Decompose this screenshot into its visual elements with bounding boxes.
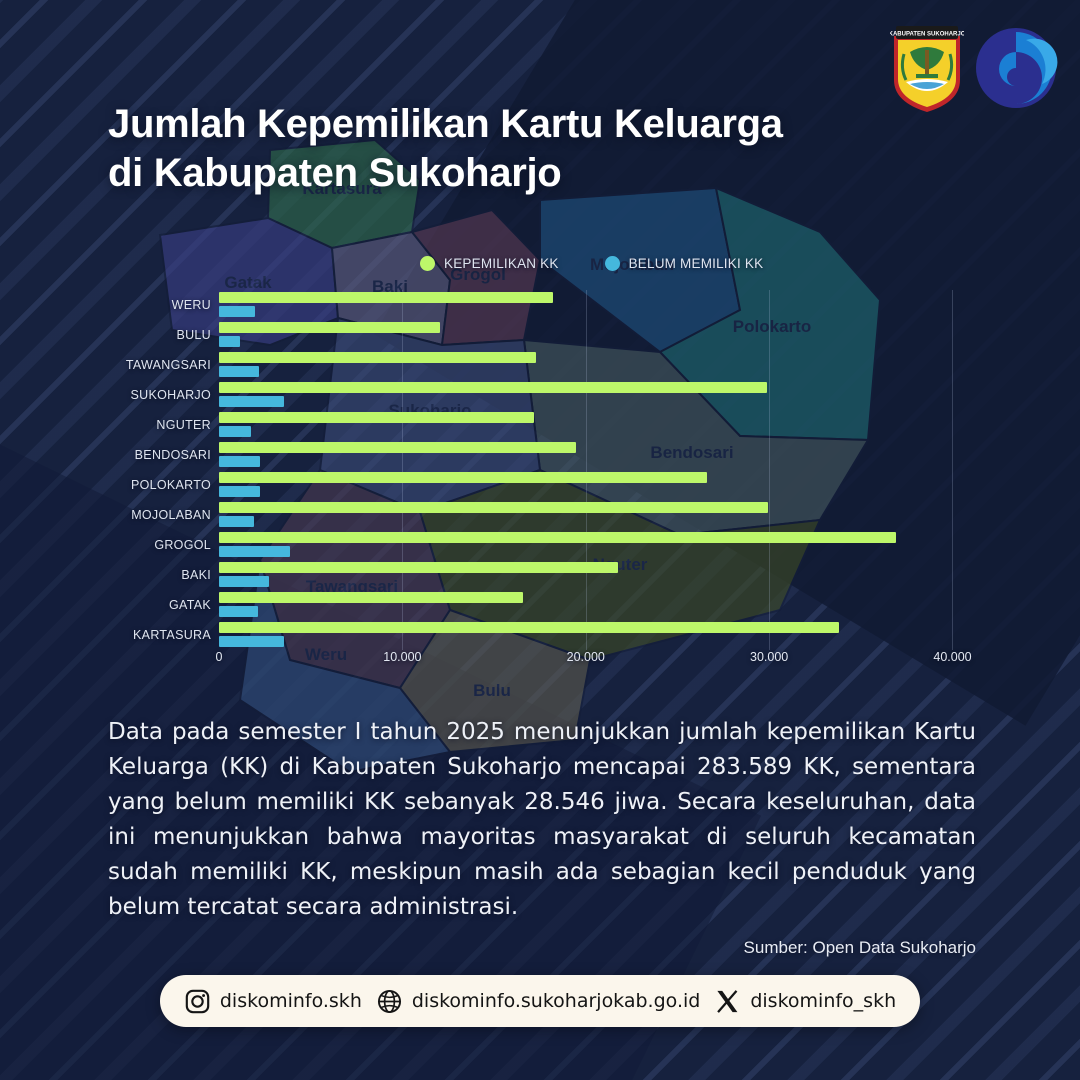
bar-belum-memiliki-kk xyxy=(219,546,290,557)
chart-category-label: BENDOSARI xyxy=(135,448,211,462)
chart-category-label: KARTASURA xyxy=(133,628,211,642)
chart-category-row: POLOKARTO xyxy=(120,470,219,500)
footer-contact-bar: diskominfo.skh diskominfo.sukoharjokab.g… xyxy=(160,975,920,1027)
svg-text:KABUPATEN SUKOHARJO: KABUPATEN SUKOHARJO xyxy=(890,32,964,38)
kominfo-logo xyxy=(974,26,1058,110)
bar-kepemilikan-kk xyxy=(219,532,896,543)
infographic-page: Kartasura Gatak Baki Grogol Mojolaban Po… xyxy=(0,0,1080,1080)
footer-twitter[interactable]: diskominfo_skh xyxy=(714,988,896,1015)
chart-legend: KEPEMILIKAN KK BELUM MEMILIKI KK xyxy=(420,256,763,271)
chart-category-label: GATAK xyxy=(169,598,211,612)
chart-bar-row xyxy=(219,410,980,440)
bar-kepemilikan-kk xyxy=(219,592,523,603)
chart-plot-area: WERUBULUTAWANGSARISUKOHARJONGUTERBENDOSA… xyxy=(120,290,980,670)
chart-x-tick-label: 20.000 xyxy=(567,650,605,664)
kabupaten-sukoharjo-crest: KABUPATEN SUKOHARJO xyxy=(890,22,964,114)
x-twitter-icon xyxy=(714,988,741,1015)
chart-category-row: BAKI xyxy=(120,560,219,590)
bar-kepemilikan-kk xyxy=(219,382,767,393)
chart-category-row: SUKOHARJO xyxy=(120,380,219,410)
bar-belum-memiliki-kk xyxy=(219,336,240,347)
chart-category-label: GROGOL xyxy=(154,538,211,552)
bar-kepemilikan-kk xyxy=(219,502,768,513)
chart-bar-row xyxy=(219,470,980,500)
bar-belum-memiliki-kk xyxy=(219,456,260,467)
logo-group: KABUPATEN SUKOHARJO xyxy=(890,22,1058,114)
bar-kepemilikan-kk xyxy=(219,352,536,363)
bar-belum-memiliki-kk xyxy=(219,576,269,587)
chart-bar-row xyxy=(219,560,980,590)
title-line-2: di Kabupaten Sukoharjo xyxy=(108,149,868,198)
chart-x-tick-label: 40.000 xyxy=(933,650,971,664)
chart-category-label: TAWANGSARI xyxy=(126,358,211,372)
chart-bar-row xyxy=(219,500,980,530)
chart-x-tick-label: 0 xyxy=(216,650,223,664)
chart-category-row: WERU xyxy=(120,290,219,320)
chart-bar-row xyxy=(219,620,980,650)
legend-item-kepemilikan: KEPEMILIKAN KK xyxy=(420,256,559,271)
globe-icon xyxy=(376,988,403,1015)
legend-label-kepemilikan: KEPEMILIKAN KK xyxy=(444,256,559,271)
bar-belum-memiliki-kk xyxy=(219,396,284,407)
bar-belum-memiliki-kk xyxy=(219,606,258,617)
footer-twitter-handle: diskominfo_skh xyxy=(750,990,896,1012)
legend-dot-green xyxy=(420,256,435,271)
footer-instagram-handle: diskominfo.skh xyxy=(220,990,362,1012)
bar-kepemilikan-kk xyxy=(219,412,534,423)
chart-category-label: NGUTER xyxy=(156,418,211,432)
chart-category-row: BULU xyxy=(120,320,219,350)
chart-category-label: BAKI xyxy=(181,568,211,582)
bar-kepemilikan-kk xyxy=(219,622,839,633)
chart-category-label: SUKOHARJO xyxy=(131,388,212,402)
chart-category-row: GATAK xyxy=(120,590,219,620)
narrative-paragraph: Data pada semester I tahun 2025 menunjuk… xyxy=(108,715,976,925)
footer-instagram[interactable]: diskominfo.skh xyxy=(184,988,362,1015)
chart-category-label: POLOKARTO xyxy=(131,478,211,492)
title-line-1: Jumlah Kepemilikan Kartu Keluarga xyxy=(108,100,868,149)
chart-bar-row xyxy=(219,590,980,620)
chart-category-row: TAWANGSARI xyxy=(120,350,219,380)
legend-item-belum-memiliki: BELUM MEMILIKI KK xyxy=(605,256,764,271)
chart-category-axis: WERUBULUTAWANGSARISUKOHARJONGUTERBENDOSA… xyxy=(120,290,219,650)
source-caption: Sumber: Open Data Sukoharjo xyxy=(744,938,976,958)
chart-category-row: KARTASURA xyxy=(120,620,219,650)
bar-belum-memiliki-kk xyxy=(219,366,259,377)
chart-bars-area xyxy=(219,290,980,650)
bar-belum-memiliki-kk xyxy=(219,306,255,317)
chart-category-row: BENDOSARI xyxy=(120,440,219,470)
bar-kepemilikan-kk xyxy=(219,322,440,333)
bar-kepemilikan-kk xyxy=(219,472,707,483)
bar-belum-memiliki-kk xyxy=(219,426,251,437)
bar-belum-memiliki-kk xyxy=(219,636,284,647)
chart-bar-row xyxy=(219,350,980,380)
chart-category-row: NGUTER xyxy=(120,410,219,440)
chart-bar-row xyxy=(219,290,980,320)
bar-belum-memiliki-kk xyxy=(219,516,254,527)
instagram-icon xyxy=(184,988,211,1015)
legend-label-belum-memiliki: BELUM MEMILIKI KK xyxy=(629,256,764,271)
footer-website-url: diskominfo.sukoharjokab.go.id xyxy=(412,990,700,1012)
chart-bar-row xyxy=(219,380,980,410)
legend-dot-cyan xyxy=(605,256,620,271)
bar-kepemilikan-kk xyxy=(219,442,576,453)
bar-kepemilikan-kk xyxy=(219,292,553,303)
footer-website[interactable]: diskominfo.sukoharjokab.go.id xyxy=(376,988,700,1015)
bar-chart: KEPEMILIKAN KK BELUM MEMILIKI KK WERUBUL… xyxy=(120,250,980,690)
chart-bar-row xyxy=(219,530,980,560)
chart-x-axis: 010.00020.00030.00040.000 xyxy=(219,650,980,674)
chart-category-label: MOJOLABAN xyxy=(131,508,211,522)
chart-x-tick-label: 30.000 xyxy=(750,650,788,664)
chart-category-label: WERU xyxy=(172,298,211,312)
chart-x-tick-label: 10.000 xyxy=(383,650,421,664)
bar-belum-memiliki-kk xyxy=(219,486,260,497)
chart-category-row: GROGOL xyxy=(120,530,219,560)
page-title: Jumlah Kepemilikan Kartu Keluarga di Kab… xyxy=(108,100,868,198)
chart-category-row: MOJOLABAN xyxy=(120,500,219,530)
chart-bar-row xyxy=(219,320,980,350)
chart-category-label: BULU xyxy=(176,328,211,342)
chart-bar-row xyxy=(219,440,980,470)
bar-kepemilikan-kk xyxy=(219,562,618,573)
